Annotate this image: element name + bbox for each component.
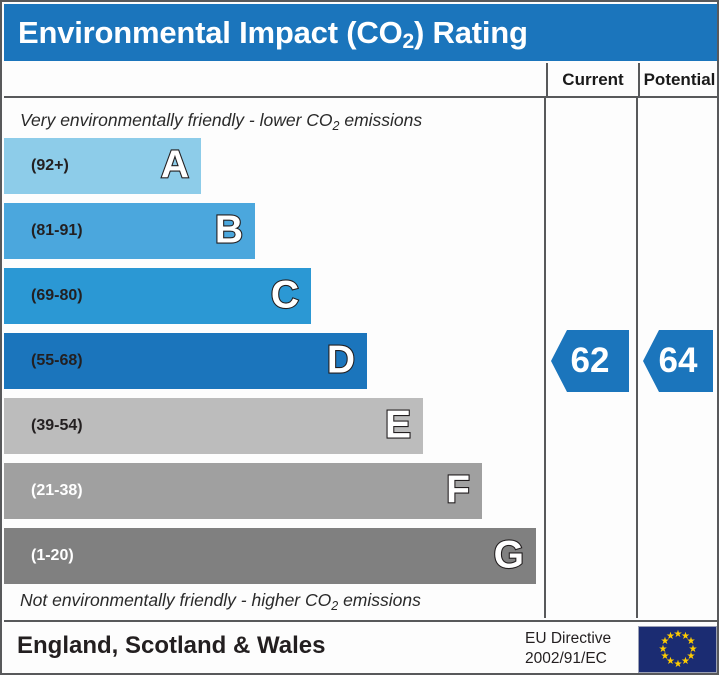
rating-band-range-g: (1-20) [4,547,74,565]
rating-band-letter-a: A [161,146,189,185]
rating-band-range-a: (92+) [4,157,69,175]
page-title: Environmental Impact (CO2) Rating [4,15,528,51]
page-title-suffix: ) Rating [414,15,528,50]
note-bottom-prefix: Not environmentally friendly - higher CO [20,590,331,610]
chart-footer: England, Scotland & Wales EU Directive 2… [4,620,717,675]
rating-band-range-e: (39-54) [4,417,83,435]
rating-band-letter-d: D [327,341,355,380]
rating-band-e: (39-54)E [4,398,423,454]
note-bottom-suffix: emissions [338,590,421,610]
rating-bands-area: Very environmentally friendly - lower CO… [4,98,544,618]
epc-environmental-impact-chart: Environmental Impact (CO2) Rating Curren… [0,0,719,675]
rating-band-range-b: (81-91) [4,222,83,240]
eu-flag-star: ★ [666,632,675,641]
footer-region-label: England, Scotland & Wales [17,632,325,660]
rating-band-letter-e: E [385,406,411,445]
note-top-prefix: Very environmentally friendly - lower CO [20,110,333,130]
note-bottom-subscript: 2 [331,599,338,613]
footer-directive-line2: 2002/91/EC [525,649,611,669]
potential-rating-badge: 64 [643,330,713,392]
column-header-row: Current Potential [4,63,717,98]
rating-band-g: (1-20)G [4,528,536,584]
column-header-potential: Potential [638,63,719,96]
rating-band-range-d: (55-68) [4,352,83,370]
note-bottom: Not environmentally friendly - higher CO… [20,590,421,611]
rating-band-a: (92+)A [4,138,201,194]
rating-band-c: (69-80)C [4,268,311,324]
rating-band-d: (55-68)D [4,333,367,389]
note-top-suffix: emissions [339,110,422,130]
rating-band-letter-b: B [215,211,243,250]
footer-eu-directive: EU Directive 2002/91/EC [525,629,611,670]
note-top-subscript: 2 [333,119,340,133]
rating-band-b: (81-91)B [4,203,255,259]
rating-band-letter-f: F [446,471,470,510]
column-divider-potential [636,98,638,618]
chart-title-banner: Environmental Impact (CO2) Rating [4,4,717,61]
column-divider-current [544,98,546,618]
rating-band-range-f: (21-38) [4,482,83,500]
rating-band-f: (21-38)F [4,463,482,519]
eu-flag-icon: ★★★★★★★★★★★★ [638,626,717,673]
rating-band-letter-g: G [494,536,524,575]
page-title-subscript: 2 [403,30,414,53]
current-rating-badge: 62 [551,330,629,392]
footer-directive-line1: EU Directive [525,629,611,649]
note-top: Very environmentally friendly - lower CO… [20,110,422,131]
column-header-current: Current [546,63,638,96]
rating-band-range-c: (69-80) [4,287,83,305]
page-title-prefix: Environmental Impact (CO [18,15,403,50]
rating-band-letter-c: C [271,276,299,315]
